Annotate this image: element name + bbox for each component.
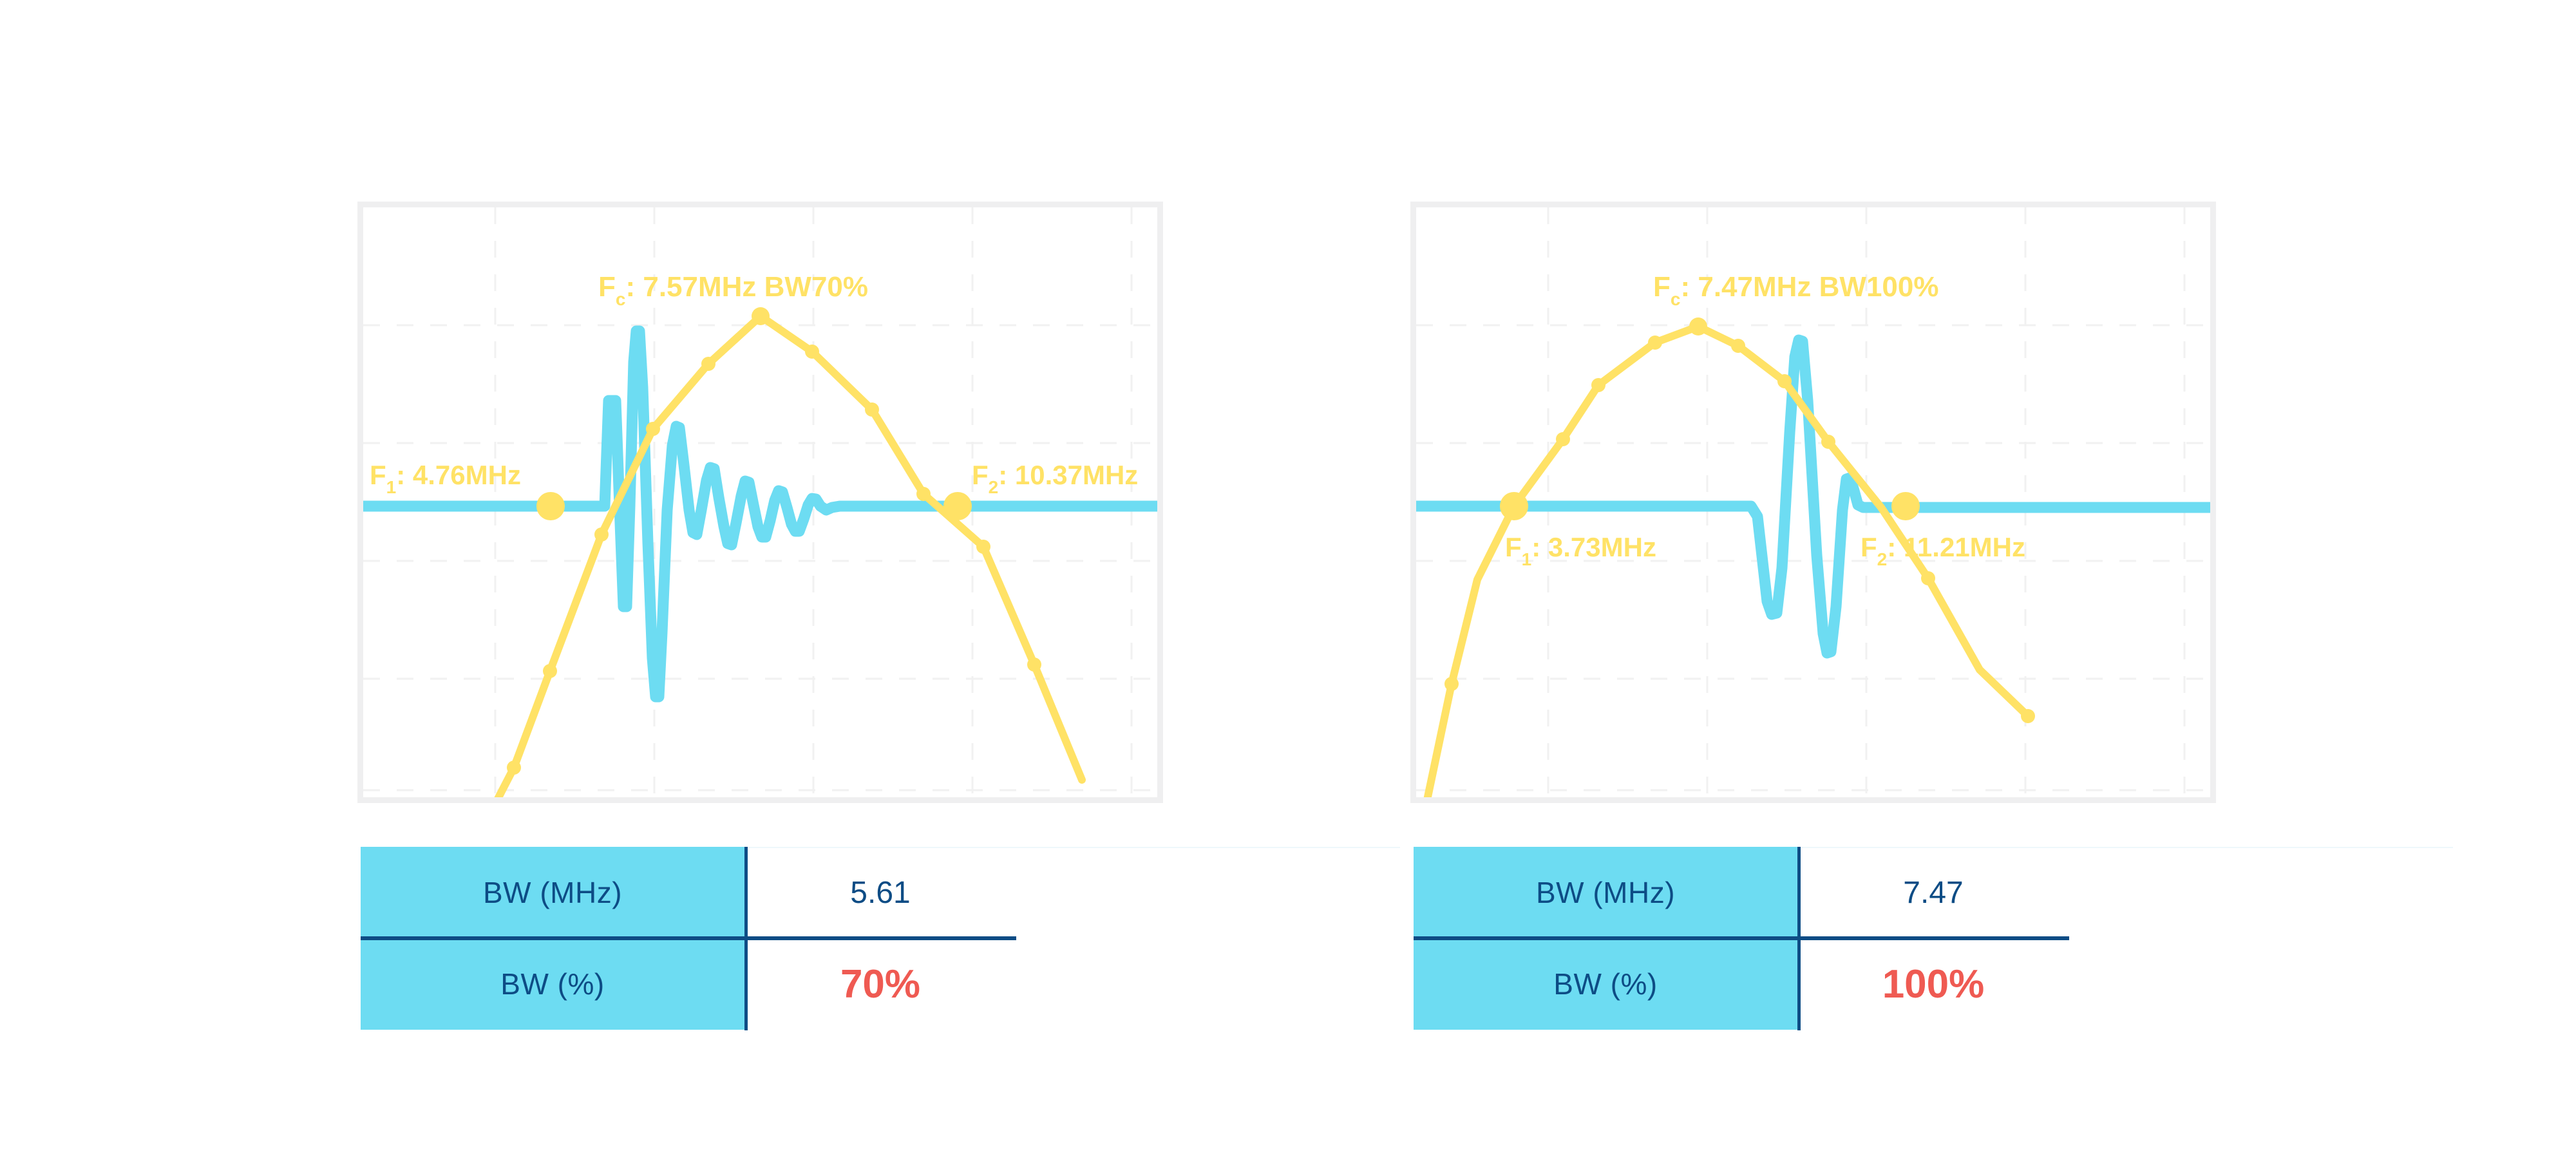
svg-text:Fc: 7.57MHz BW70%: Fc: 7.57MHz BW70% [598, 271, 868, 309]
f1-prefix-left: F [370, 460, 386, 490]
annotation-f1-right: F1: 3.73MHz [1505, 532, 1656, 569]
marker-f1-left [536, 492, 565, 520]
table-row: BW (MHz) 7.47 [1414, 847, 2069, 938]
f1-prefix-right: F [1505, 532, 1522, 562]
f2-text-left: : 10.37MHz [998, 460, 1138, 490]
plot-left: Fc: 7.57MHz BW70% F1: 4.76MHz F2: 10.37M… [363, 207, 1157, 797]
plot-frame-right: Fc: 7.47MHz BW100% F1: 3.73MHz F2: 11.21… [1410, 202, 2216, 803]
table-row: BW (MHz) 5.61 [361, 847, 1016, 938]
spectrum-markers-left [507, 307, 1041, 775]
marker-f1-right [1500, 492, 1528, 520]
fc-sub-left: c [616, 289, 626, 309]
fc-prefix-right: F [1653, 271, 1671, 303]
f2-sub-left: 2 [989, 477, 999, 497]
svg-text:F1: 4.76MHz: F1: 4.76MHz [370, 460, 521, 497]
row-header-bw-mhz: BW (MHz) [1414, 847, 1797, 938]
row-header-bw-pct: BW (%) [361, 938, 744, 1030]
screenshot-root: Fc: 7.57MHz BW70% F1: 4.76MHz F2: 10.37M… [0, 0, 2576, 1154]
f2-text-right: : 11.21MHz [1887, 532, 2025, 562]
row-value-bw-pct: 100% [1797, 938, 2069, 1030]
f2-sub-right: 2 [1877, 549, 1888, 569]
bw-table-left: BW (MHz) 5.61 BW (%) 70% [361, 847, 1016, 1030]
bw-pct-value-right: 100% [1882, 961, 1985, 1007]
row-value-bw-mhz: 7.47 [1797, 847, 2069, 938]
svg-text:F2: 11.21MHz: F2: 11.21MHz [1861, 532, 2025, 569]
bw-mhz-value-left: 5.61 [850, 875, 910, 911]
fc-sub-right: c [1671, 289, 1681, 309]
plot-right: Fc: 7.47MHz BW100% F1: 3.73MHz F2: 11.21… [1416, 207, 2210, 797]
bw-pct-value-left: 70% [840, 961, 920, 1007]
table-row-divider-left [361, 936, 1016, 940]
f2-prefix-left: F [972, 460, 989, 490]
row-value-bw-pct: 70% [744, 938, 1016, 1030]
annotation-center-left: Fc: 7.57MHz BW70% [598, 271, 868, 309]
annotation-f1-left: F1: 4.76MHz [370, 460, 521, 497]
panel-left: Fc: 7.57MHz BW70% F1: 4.76MHz F2: 10.37M… [357, 202, 1163, 803]
annotation-f2-left: F2: 10.37MHz [972, 460, 1138, 497]
fc-prefix-left: F [598, 271, 616, 303]
svg-text:F1: 3.73MHz: F1: 3.73MHz [1505, 532, 1656, 569]
annotation-center-right: Fc: 7.47MHz BW100% [1653, 271, 1938, 309]
svg-text:F2: 10.37MHz: F2: 10.37MHz [972, 460, 1138, 497]
fc-text-left: : 7.57MHz BW70% [625, 271, 868, 303]
f1-text-right: : 3.73MHz [1531, 532, 1656, 562]
spectrum-markers-right [1444, 317, 2035, 723]
table-row: BW (%) 70% [361, 938, 1016, 1030]
plot-frame-left: Fc: 7.57MHz BW70% F1: 4.76MHz F2: 10.37M… [357, 202, 1163, 803]
row-value-bw-mhz: 5.61 [744, 847, 1016, 938]
f1-sub-left: 1 [386, 477, 397, 497]
annotation-f2-right: F2: 11.21MHz [1861, 532, 2025, 569]
f1-text-left: : 4.76MHz [396, 460, 521, 490]
table-row-divider-right [1414, 936, 2069, 940]
table-row: BW (%) 100% [1414, 938, 2069, 1030]
table-top-hairline-right [1797, 847, 2453, 848]
f1-sub-right: 1 [1522, 549, 1532, 569]
row-header-bw-mhz: BW (MHz) [361, 847, 744, 938]
bw-mhz-value-right: 7.47 [1903, 875, 1963, 911]
spectrum-line-left [451, 316, 1082, 797]
bw-table-right: BW (MHz) 7.47 BW (%) 100% [1414, 847, 2069, 1030]
fc-text-right: : 7.47MHz BW100% [1680, 271, 1938, 303]
marker-f2-left [943, 492, 972, 520]
pulse-waveform-right [1416, 340, 2210, 653]
panel-right: Fc: 7.47MHz BW100% F1: 3.73MHz F2: 11.21… [1410, 202, 2216, 803]
pulse-waveform-left [363, 331, 1157, 697]
row-header-bw-pct: BW (%) [1414, 938, 1797, 1030]
svg-text:Fc: 7.47MHz BW100%: Fc: 7.47MHz BW100% [1653, 271, 1938, 309]
marker-f2-right [1891, 492, 1920, 520]
table-top-hairline-left [744, 847, 1400, 848]
f2-prefix-right: F [1861, 532, 1877, 562]
